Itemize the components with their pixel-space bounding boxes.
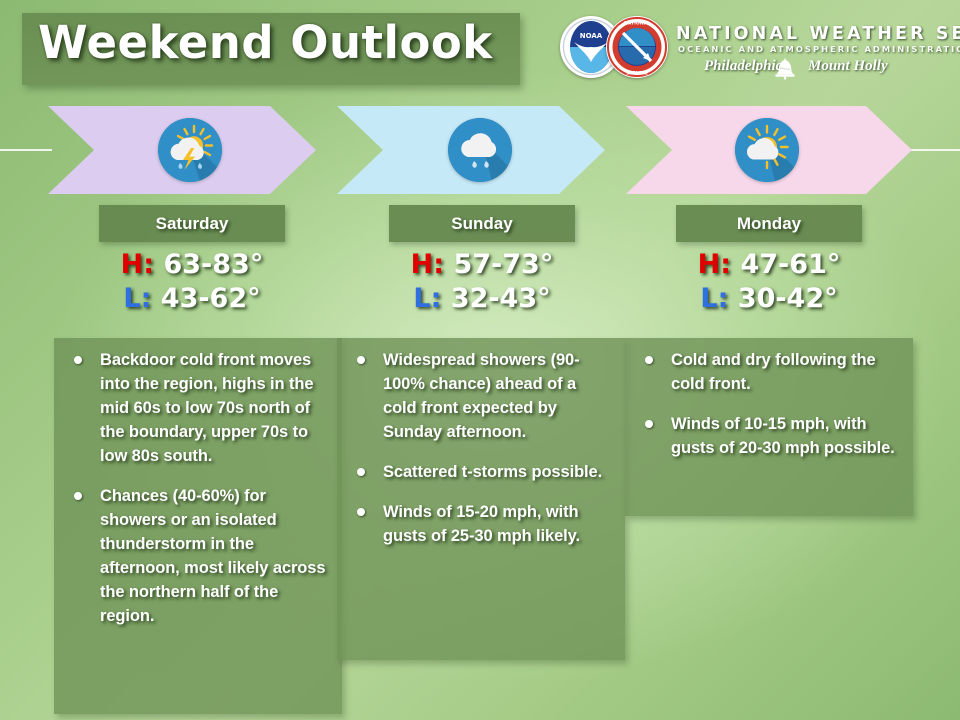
low-temp-row-sunday: L: 32-43°: [389, 282, 575, 316]
low-temp-value: 32-43°: [451, 283, 551, 314]
day-header-monday: Monday: [676, 205, 862, 242]
high-temp-row-sunday: H: 57-73°: [389, 248, 575, 282]
day-name-sunday: Sunday: [389, 214, 575, 234]
office-city-philadelphia: Philadelphia: [704, 58, 783, 75]
list-item: Cold and dry following the cold front.: [635, 348, 901, 396]
banner-rule-left: [0, 149, 52, 151]
bullet-dot-icon: [357, 508, 365, 516]
list-item: Scattered t-storms possible.: [347, 460, 613, 484]
nws-seal-icon: NATIONAL SERVICE: [606, 16, 668, 78]
sun-cloud-thunderstorm-rain-icon: [158, 118, 222, 182]
forecast-text: Widespread showers (90-100% chance) ahea…: [383, 348, 613, 444]
bullet-dot-icon: [357, 356, 365, 364]
low-temp-row-monday: L: 30-42°: [676, 282, 862, 316]
page-title: Weekend Outlook: [38, 16, 493, 69]
list-item: Chances (40-60%) for showers or an isola…: [64, 484, 330, 628]
forecast-text: Backdoor cold front moves into the regio…: [100, 348, 330, 468]
rain-cloud-icon: [448, 118, 512, 182]
day-name-monday: Monday: [676, 214, 862, 234]
high-temp-label: H:: [698, 249, 731, 280]
list-item: Widespread showers (90-100% chance) ahea…: [347, 348, 613, 444]
liberty-bell-icon: [774, 56, 796, 80]
weekend-outlook-graphic: Weekend Outlook NOAA NATI: [0, 0, 960, 720]
bullet-dot-icon: [74, 492, 82, 500]
day-header-sunday: Sunday: [389, 205, 575, 242]
temperature-block-saturday: H: 63-83° L: 43-62°: [99, 248, 285, 316]
forecast-text: Cold and dry following the cold front.: [671, 348, 901, 396]
bullet-dot-icon: [357, 468, 365, 476]
low-temp-label: L:: [700, 283, 728, 314]
high-temp-label: H:: [121, 249, 154, 280]
list-item: Winds of 15-20 mph, with gusts of 25-30 …: [347, 500, 613, 548]
low-temp-value: 43-62°: [161, 283, 261, 314]
svg-text:SERVICE: SERVICE: [626, 71, 648, 77]
svg-text:NATIONAL: NATIONAL: [624, 21, 650, 27]
sun-behind-cloud-icon: [735, 118, 799, 182]
noaa-subtitle-line: OCEANIC AND ATMOSPHERIC ADMINISTRATION: [678, 44, 960, 54]
high-temp-row-saturday: H: 63-83°: [99, 248, 285, 282]
list-item: Winds of 10-15 mph, with gusts of 20-30 …: [635, 412, 901, 460]
day-name-saturday: Saturday: [99, 214, 285, 234]
high-temp-value: 47-61°: [740, 249, 840, 280]
high-temp-row-monday: H: 47-61°: [676, 248, 862, 282]
forecast-text: Chances (40-60%) for showers or an isola…: [100, 484, 330, 628]
list-item: Backdoor cold front moves into the regio…: [64, 348, 330, 468]
low-temp-label: L:: [123, 283, 151, 314]
low-temp-label: L:: [413, 283, 441, 314]
forecast-panel-monday: Cold and dry following the cold front. W…: [625, 338, 913, 516]
nws-branding: NOAA NATIONAL SERVICE NATIONAL WEATHER S…: [558, 8, 954, 90]
forecast-text: Scattered t-storms possible.: [383, 460, 613, 484]
bullet-dot-icon: [645, 420, 653, 428]
high-temp-label: H:: [411, 249, 444, 280]
temperature-block-sunday: H: 57-73° L: 32-43°: [389, 248, 575, 316]
high-temp-value: 57-73°: [453, 249, 553, 280]
low-temp-row-saturday: L: 43-62°: [99, 282, 285, 316]
day-header-saturday: Saturday: [99, 205, 285, 242]
forecast-text: Winds of 15-20 mph, with gusts of 25-30 …: [383, 500, 613, 548]
bullet-dot-icon: [645, 356, 653, 364]
office-city-mount-holly: Mount Holly: [808, 58, 888, 75]
nws-title-line: NATIONAL WEATHER SERVICE: [676, 24, 960, 44]
svg-text:NOAA: NOAA: [580, 32, 603, 40]
temperature-block-monday: H: 47-61° L: 30-42°: [676, 248, 862, 316]
low-temp-value: 30-42°: [738, 283, 838, 314]
banner-rule-right: [906, 149, 960, 151]
high-temp-value: 63-83°: [163, 249, 263, 280]
bullet-dot-icon: [74, 356, 82, 364]
forecast-panel-saturday: Backdoor cold front moves into the regio…: [54, 338, 342, 714]
forecast-text: Winds of 10-15 mph, with gusts of 20-30 …: [671, 412, 901, 460]
forecast-panel-sunday: Widespread showers (90-100% chance) ahea…: [337, 338, 625, 660]
